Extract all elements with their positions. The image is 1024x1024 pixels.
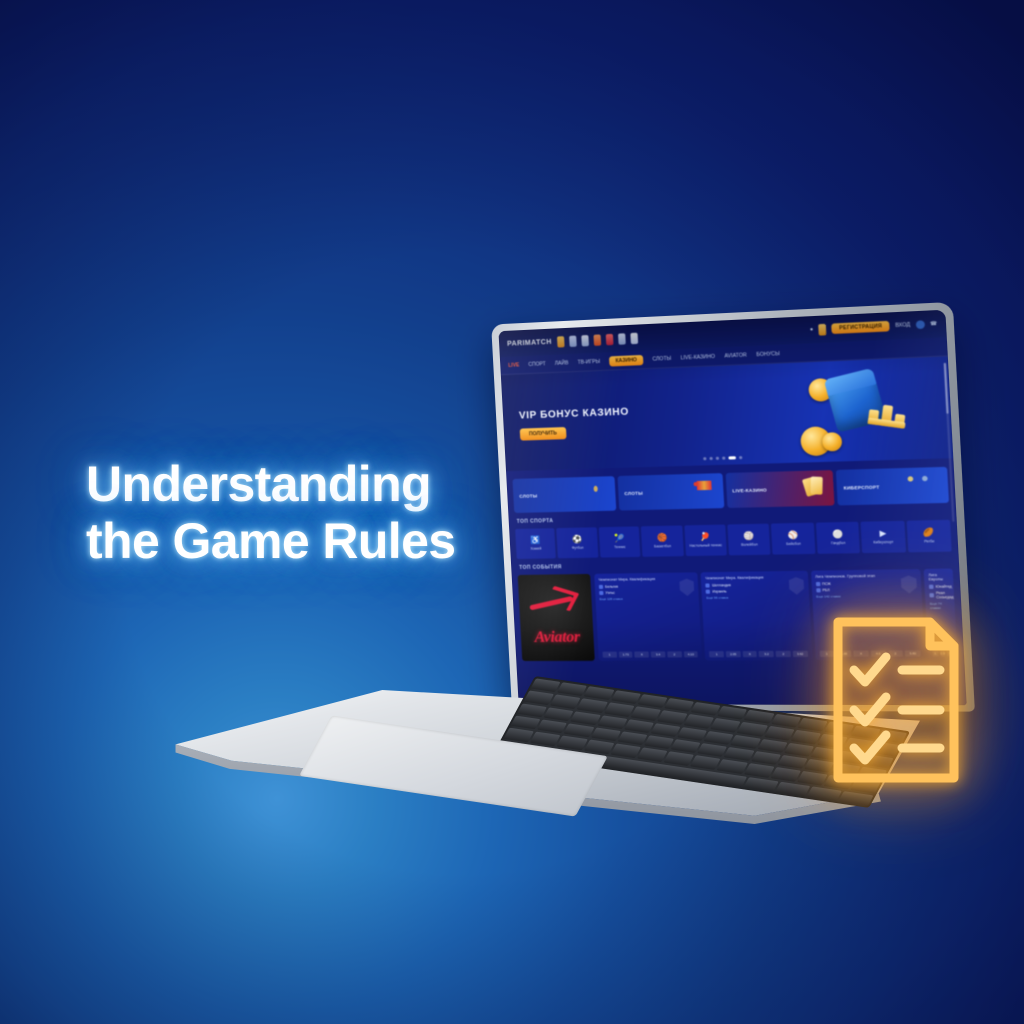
events-section-heading: ТОП СОБЫТИЯ xyxy=(519,564,562,571)
key[interactable] xyxy=(530,732,560,746)
sport-label: Баскетбол xyxy=(654,544,671,548)
match-card[interactable]: Чемпионат Мира. Квалификация Шотландия И… xyxy=(701,571,812,661)
odds-row: 1 2.05 X 3.2 2 3.62 xyxy=(709,651,807,658)
key[interactable] xyxy=(710,719,740,733)
sport-tile-volleyball[interactable]: 🏐 Волейбол xyxy=(727,524,770,556)
odds-button[interactable]: X xyxy=(742,651,757,657)
sport-tile-hockey[interactable]: ♿ Хоккей xyxy=(515,528,556,559)
language-selector[interactable] xyxy=(915,320,924,329)
match-team: Израиль xyxy=(712,589,726,593)
match-league: Лига Чемпионов. Групповой этап xyxy=(815,573,916,579)
category-label: КИБЕРСПОРТ xyxy=(843,484,879,490)
nav-item-casino-active[interactable]: КАЗИНО xyxy=(609,354,643,366)
rocket-icon[interactable] xyxy=(605,333,613,344)
sport-tile-basketball[interactable]: 🏀 Баскетбол xyxy=(641,525,684,556)
sport-tile-baseball[interactable]: ⚾ Бейсбол xyxy=(771,523,815,555)
odds-button[interactable]: 1 xyxy=(709,651,724,657)
key[interactable] xyxy=(623,719,653,733)
category-tile-live-casino[interactable]: LIVE-КАЗИНО xyxy=(725,470,835,508)
sport-label: Киберспорт xyxy=(873,540,893,545)
tennis-icon: 🎾 xyxy=(614,535,625,543)
key[interactable] xyxy=(690,702,720,716)
basketball-icon: 🏀 xyxy=(657,534,668,542)
hero-banner[interactable]: VIP БОНУС КАЗИНО ПОЛУЧИТЬ xyxy=(501,356,953,471)
game-card-title: Aviator xyxy=(521,628,594,647)
nav-item-slots[interactable]: СЛОТЫ xyxy=(652,355,671,362)
key[interactable] xyxy=(670,740,700,754)
odds-button[interactable]: 1 xyxy=(602,652,616,658)
match-card[interactable]: Чемпионат Мира. Квалификация Бельгия Уэл… xyxy=(594,572,702,660)
key[interactable] xyxy=(637,694,667,708)
key-arrow-left[interactable] xyxy=(775,782,810,797)
odds-row: 1 1.73 X 3.4 2 4.10 xyxy=(602,651,698,657)
key[interactable] xyxy=(770,768,800,782)
key[interactable] xyxy=(557,736,587,750)
laptop-base xyxy=(168,690,920,826)
category-label: LIVE-КАЗИНО xyxy=(732,487,767,493)
key[interactable] xyxy=(583,740,613,754)
carousel-dot[interactable] xyxy=(709,457,712,460)
ticket-icon[interactable] xyxy=(630,332,638,344)
match-team: Юнайтед xyxy=(936,584,952,588)
key[interactable] xyxy=(610,744,640,758)
key[interactable] xyxy=(603,703,633,717)
key[interactable] xyxy=(510,716,540,730)
sport-label: Футбол xyxy=(572,546,584,550)
sports-tiles: ♿ Хоккей ⚽ Футбол 🎾 Теннис 🏀 Баскетбол xyxy=(515,520,952,559)
key[interactable] xyxy=(523,691,553,705)
team-badge-icon xyxy=(599,585,603,589)
key[interactable] xyxy=(663,698,693,712)
key[interactable] xyxy=(797,718,827,732)
bell-icon[interactable]: ● xyxy=(810,327,814,333)
nav-item-lajv[interactable]: ЛАЙВ xyxy=(555,360,569,367)
playing-cards-icon xyxy=(804,474,829,500)
key[interactable] xyxy=(750,751,780,765)
category-label: СЛОТЫ xyxy=(519,493,537,498)
table-tennis-icon: 🏓 xyxy=(700,533,711,541)
carousel-dots[interactable] xyxy=(703,456,742,460)
gamepad-icon xyxy=(917,471,943,497)
nav-item-live-casino[interactable]: LIVE-КАЗИНО xyxy=(680,353,715,361)
odds-button[interactable]: 3.62 xyxy=(793,651,808,657)
match-league: Чемпионат Мира. Квалификация xyxy=(705,575,803,581)
key[interactable] xyxy=(703,731,733,745)
match-team: Бельгия xyxy=(605,585,618,589)
nav-item-tv-games[interactable]: ТВ-ИГРЫ xyxy=(577,358,600,365)
key[interactable] xyxy=(723,747,753,761)
key[interactable] xyxy=(797,772,827,786)
key[interactable] xyxy=(503,728,533,742)
team-badge-icon xyxy=(706,590,710,594)
match-team: Уэльс xyxy=(605,591,615,595)
key[interactable] xyxy=(563,724,593,738)
checklist-document-icon xyxy=(826,608,966,792)
category-label: СЛОТЫ xyxy=(624,490,643,496)
bowling-icon[interactable] xyxy=(581,335,589,346)
sports-section-heading: ТОП СПОРТА xyxy=(517,518,554,525)
key[interactable] xyxy=(550,695,580,709)
team-badge-icon xyxy=(816,582,821,586)
category-tiles: СЛОТЫ СЛОТЫ LIVE-КАЗИНО КИБЕРСПОРТ xyxy=(512,467,949,513)
carousel-dot[interactable] xyxy=(703,457,706,460)
hero-cta-button[interactable]: ПОЛУЧИТЬ xyxy=(520,427,567,441)
key[interactable] xyxy=(744,710,774,724)
game-card-aviator[interactable]: Aviator xyxy=(518,574,595,661)
key[interactable] xyxy=(717,706,747,720)
category-tile-slots[interactable]: СЛОТЫ xyxy=(512,476,616,513)
sport-label: Хоккей xyxy=(530,547,541,551)
key[interactable] xyxy=(597,715,627,729)
key[interactable] xyxy=(717,760,747,774)
odds-button[interactable]: X xyxy=(635,651,649,657)
key[interactable] xyxy=(543,707,573,721)
slot-machine-icon xyxy=(694,477,718,502)
sport-tile-handball[interactable]: ⚪ Гандбол xyxy=(816,522,860,554)
match-team: РБЛ xyxy=(822,588,829,592)
team-badge-icon xyxy=(599,591,603,595)
hero-artwork xyxy=(793,364,927,461)
gem-icon xyxy=(587,480,611,505)
key[interactable] xyxy=(577,699,607,713)
team-badge-icon xyxy=(929,585,934,589)
key[interactable] xyxy=(770,714,800,728)
carousel-dot-active[interactable] xyxy=(728,456,736,459)
key[interactable] xyxy=(570,711,600,725)
headset-icon[interactable]: ☎ xyxy=(930,321,937,328)
odds-button[interactable]: 4.10 xyxy=(683,651,698,657)
login-button[interactable]: ВХОД xyxy=(895,322,910,329)
key[interactable] xyxy=(657,711,687,725)
golden-crown xyxy=(868,401,908,429)
odds-button[interactable]: 2 xyxy=(776,651,791,657)
red-plane-icon xyxy=(528,588,582,615)
odds-button[interactable]: 3.2 xyxy=(759,651,774,657)
key[interactable] xyxy=(650,723,680,737)
sport-tile-esports[interactable]: ▶ Киберспорт xyxy=(861,521,906,553)
rugby-icon: 🏉 xyxy=(923,529,935,538)
match-league: Лига Европы xyxy=(928,573,949,582)
key[interactable] xyxy=(663,752,693,766)
register-button[interactable]: РЕГИСТРАЦИЯ xyxy=(831,321,890,334)
odds-button[interactable]: 1.73 xyxy=(619,652,633,658)
football-icon: ⚽ xyxy=(572,536,583,544)
key[interactable] xyxy=(537,720,567,734)
sport-tile-tennis[interactable]: 🎾 Теннис xyxy=(599,526,641,557)
site-logo[interactable]: PARIMATCH xyxy=(507,338,552,347)
trophy-icon[interactable] xyxy=(556,336,564,347)
nav-item-live[interactable]: LIVE xyxy=(508,362,519,368)
team-badge-icon xyxy=(929,593,934,597)
key[interactable] xyxy=(530,679,560,693)
key[interactable] xyxy=(690,756,720,770)
key[interactable] xyxy=(637,748,667,762)
sport-label: Регби xyxy=(924,539,934,543)
sport-tile-table-tennis[interactable]: 🏓 Настольный теннис xyxy=(684,525,727,557)
match-team: Шотландия xyxy=(712,583,731,587)
medal-icon[interactable] xyxy=(618,333,626,345)
key[interactable] xyxy=(630,707,660,721)
key[interactable] xyxy=(643,736,673,750)
key[interactable] xyxy=(764,727,794,741)
key[interactable] xyxy=(590,728,620,742)
carousel-dot[interactable] xyxy=(716,457,719,460)
handball-icon: ⚪ xyxy=(832,530,843,539)
odds-button[interactable]: 3.4 xyxy=(651,651,666,657)
carousel-dot[interactable] xyxy=(722,457,725,460)
esports-icon: ▶ xyxy=(879,530,886,539)
key-command-right[interactable] xyxy=(743,777,778,792)
sport-label: Настольный теннис xyxy=(689,543,722,548)
match-league: Чемпионат Мира. Квалификация xyxy=(598,576,693,581)
key[interactable] xyxy=(757,739,787,753)
gift-icon[interactable] xyxy=(818,323,826,335)
sport-label: Теннис xyxy=(614,545,626,549)
hero-title: VIP БОНУС КАЗИНО xyxy=(519,406,630,421)
key-arrow-right[interactable] xyxy=(838,791,873,806)
more-bets-link[interactable]: Ещё 96 ставок xyxy=(706,595,804,600)
carousel-dot[interactable] xyxy=(739,456,742,459)
nav-item-bonuses[interactable]: БОНУСЫ xyxy=(756,350,780,357)
key[interactable] xyxy=(730,735,760,749)
match-team: ПСЖ xyxy=(822,582,831,586)
gold-coin xyxy=(822,432,843,451)
sport-label: Гандбол xyxy=(831,541,845,545)
more-bets-link[interactable]: Ещё 128 ставок xyxy=(600,596,695,601)
volleyball-icon: 🏐 xyxy=(743,532,754,540)
category-tile-casino[interactable]: СЛОТЫ xyxy=(617,473,724,510)
key[interactable] xyxy=(743,764,773,778)
odds-button[interactable]: 2 xyxy=(667,651,682,657)
nav-item-sport[interactable]: СПОРТ xyxy=(528,361,546,368)
key[interactable] xyxy=(790,730,820,744)
key[interactable] xyxy=(610,690,640,704)
sport-tile-rugby[interactable]: 🏉 Регби xyxy=(906,520,952,553)
key[interactable] xyxy=(583,687,613,701)
more-bets-link[interactable]: Ещё 142 ставки xyxy=(816,593,917,598)
team-badge-icon xyxy=(706,583,710,587)
flame-icon[interactable] xyxy=(593,334,601,345)
topbar-actions: ● РЕГИСТРАЦИЯ ВХОД ☎ xyxy=(810,318,938,335)
key[interactable] xyxy=(617,732,647,746)
odds-button[interactable]: 2.05 xyxy=(726,651,741,657)
team-badge-icon xyxy=(816,588,821,592)
match-team: Реал Сосьедад xyxy=(936,591,954,600)
key[interactable] xyxy=(683,715,713,729)
sport-tile-football[interactable]: ⚽ Футбол xyxy=(557,527,599,558)
baseball-icon: ⚾ xyxy=(787,531,798,540)
category-tile-esports[interactable]: КИБЕРСПОРТ xyxy=(836,467,949,506)
sport-label: Бейсбол xyxy=(786,542,801,546)
key[interactable] xyxy=(517,704,547,718)
key[interactable] xyxy=(557,683,587,697)
hockey-icon: ♿ xyxy=(530,536,540,544)
nav-item-aviator[interactable]: AVIATOR xyxy=(724,352,747,359)
key[interactable] xyxy=(697,743,727,757)
key[interactable] xyxy=(784,743,814,757)
dice-icon[interactable] xyxy=(569,335,577,346)
sport-label: Волейбол xyxy=(741,542,758,546)
